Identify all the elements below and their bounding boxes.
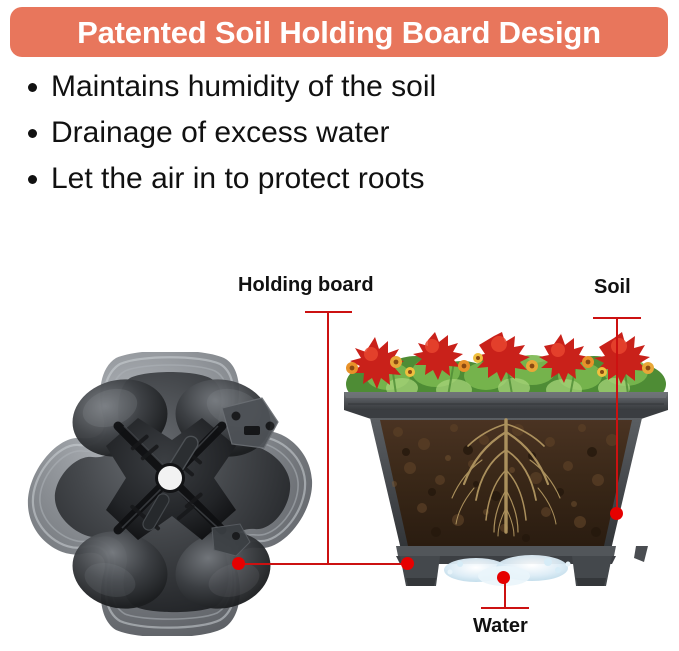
list-item: Let the air in to protect roots (20, 162, 660, 208)
callout-label-water: Water (473, 615, 528, 638)
holding-board-marker-right (401, 557, 414, 570)
water-reservoir (396, 546, 648, 586)
planter-cross-section-image (336, 332, 676, 594)
feature-text: Drainage of excess water (51, 116, 390, 150)
soil-leader-stem (616, 317, 618, 514)
drain-spout (634, 546, 648, 562)
callout-label-soil: Soil (594, 276, 631, 299)
soil-holding-board-image (26, 352, 314, 636)
bullet-icon (28, 129, 37, 138)
bullet-icon (28, 83, 37, 92)
holding-board-leader-stem (327, 311, 329, 564)
bullet-icon (28, 175, 37, 184)
soil-marker (610, 507, 623, 520)
feature-list: Maintains humidity of the soil Drainage … (20, 70, 660, 208)
holding-board-marker-left (232, 557, 245, 570)
feature-text: Let the air in to protect roots (51, 162, 425, 196)
list-item: Drainage of excess water (20, 116, 660, 162)
water-marker (497, 571, 510, 584)
list-item: Maintains humidity of the soil (20, 70, 660, 116)
center-drain-hole (158, 466, 182, 490)
callout-label-holding-board: Holding board (238, 274, 374, 297)
pot-rim (344, 392, 668, 420)
holding-board-leader-run (238, 563, 413, 565)
infographic-page: Patented Soil Holding Board Design Maint… (0, 0, 679, 651)
page-title: Patented Soil Holding Board Design (77, 17, 601, 48)
header-banner: Patented Soil Holding Board Design (10, 7, 668, 57)
feature-text: Maintains humidity of the soil (51, 70, 436, 104)
